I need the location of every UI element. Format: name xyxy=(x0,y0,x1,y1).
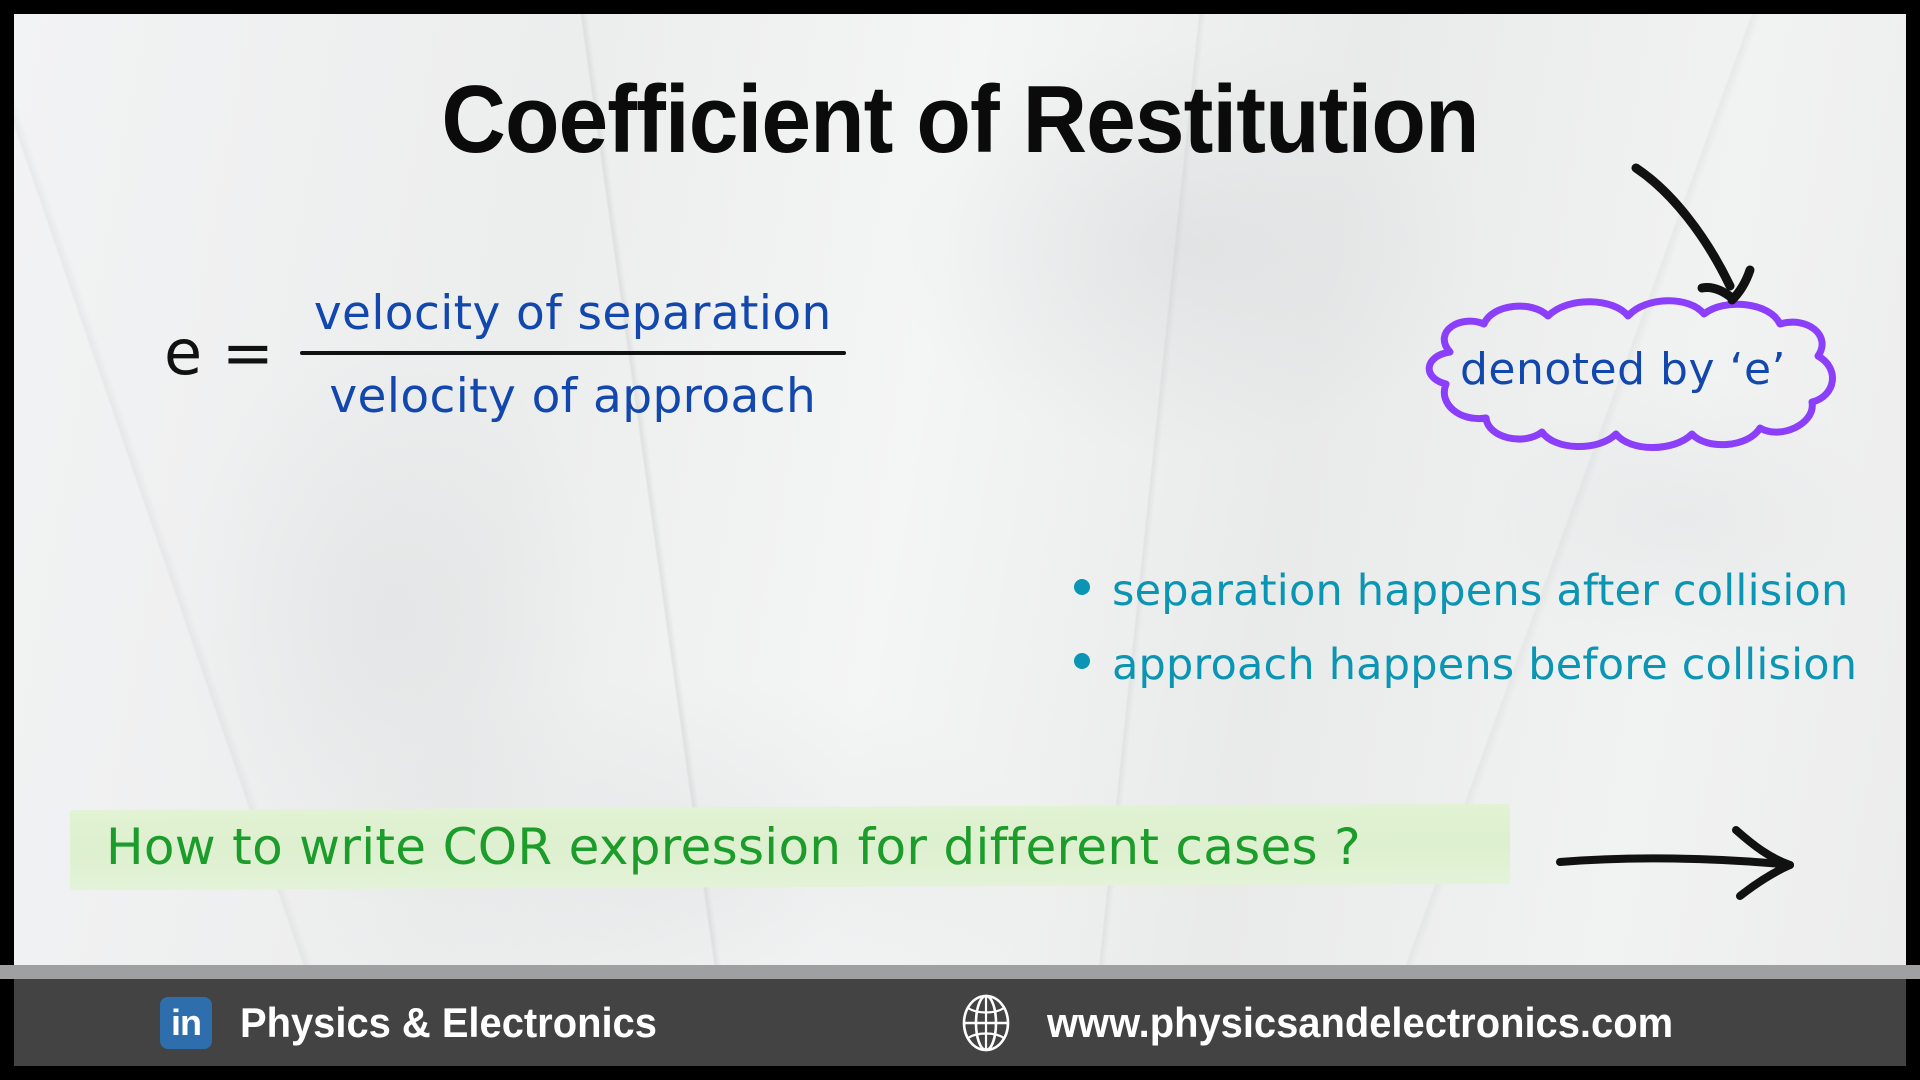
linkedin-icon[interactable]: in xyxy=(160,997,212,1049)
formula-numerator: velocity of separation xyxy=(300,286,846,341)
formula-left-hand-side: e = xyxy=(164,316,274,395)
formula-block: e = velocity of separation velocity of a… xyxy=(164,286,846,424)
page-title: Coefficient of Restitution xyxy=(80,72,1840,168)
slide-root: Coefficient of Restitution e = velocity … xyxy=(0,0,1920,1080)
footer-website-group[interactable]: www.physicsandelectronics.com xyxy=(959,994,1706,1052)
globe-icon xyxy=(959,994,1013,1052)
brand-name: Physics & Electronics xyxy=(240,999,657,1047)
slide-canvas: Coefficient of Restitution e = velocity … xyxy=(14,14,1906,981)
formula-denominator: velocity of approach xyxy=(315,369,830,424)
straight-arrow-icon xyxy=(1554,822,1814,902)
formula-fraction-bar xyxy=(300,351,846,355)
footer-divider xyxy=(0,965,1920,979)
bullet-list: separation happens after collision appro… xyxy=(1074,566,1894,714)
bullet-text: approach happens before collision xyxy=(1112,640,1857,690)
footer-bar: in Physics & Electronics www.physicsande… xyxy=(14,979,1906,1066)
list-item: separation happens after collision xyxy=(1074,566,1894,616)
bullet-dot-icon xyxy=(1074,653,1090,669)
curved-arrow-icon xyxy=(1594,140,1894,320)
bullet-text: separation happens after collision xyxy=(1112,566,1848,616)
question-text: How to write COR expression for differen… xyxy=(106,811,1361,883)
footer-brand-group[interactable]: in Physics & Electronics xyxy=(160,997,679,1049)
formula-fraction: velocity of separation velocity of appro… xyxy=(300,286,846,424)
list-item: approach happens before collision xyxy=(1074,640,1894,690)
bullet-dot-icon xyxy=(1074,579,1090,595)
website-url: www.physicsandelectronics.com xyxy=(1047,999,1673,1047)
